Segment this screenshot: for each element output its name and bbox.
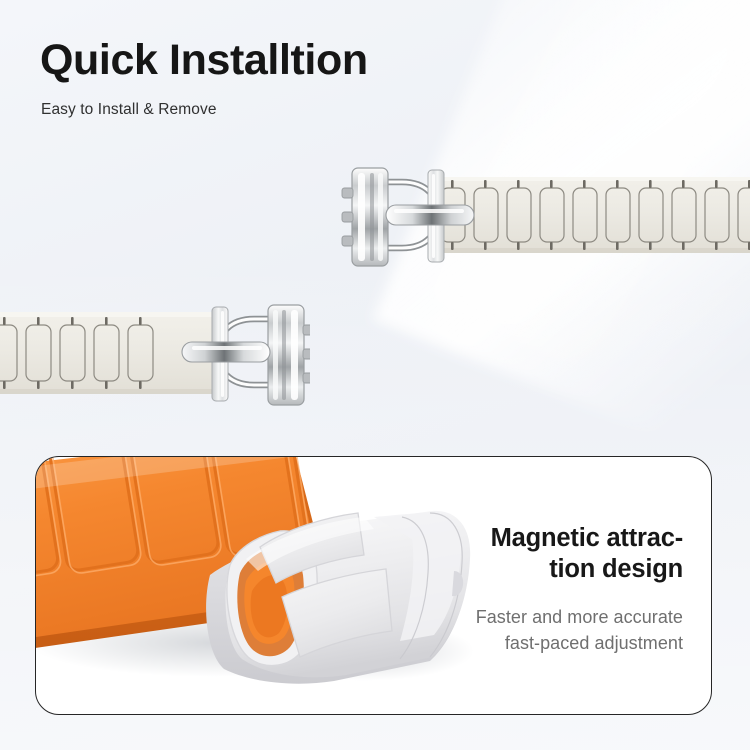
- feature-card-sub-line2: fast-paced adjustment: [383, 631, 683, 657]
- feature-card-subtext: Faster and more accurate fast-paced adju…: [383, 605, 683, 656]
- feature-card-heading-line1: Magnetic attrac-: [383, 523, 683, 554]
- feature-card: Magnetic attrac- tion design Faster and …: [35, 456, 712, 715]
- feature-card-text: Magnetic attrac- tion design Faster and …: [383, 523, 683, 656]
- upper-strap-illustration: [340, 160, 750, 278]
- feature-card-heading: Magnetic attrac- tion design: [383, 523, 683, 585]
- feature-card-sub-line1: Faster and more accurate: [383, 605, 683, 631]
- feature-card-heading-line2: tion design: [383, 554, 683, 585]
- page-title: Quick Installtion: [40, 38, 368, 83]
- product-feature-image: Quick Installtion Easy to Install & Remo…: [0, 0, 750, 750]
- page-subtitle: Easy to Install & Remove: [41, 101, 217, 119]
- lower-strap-illustration: [0, 295, 310, 415]
